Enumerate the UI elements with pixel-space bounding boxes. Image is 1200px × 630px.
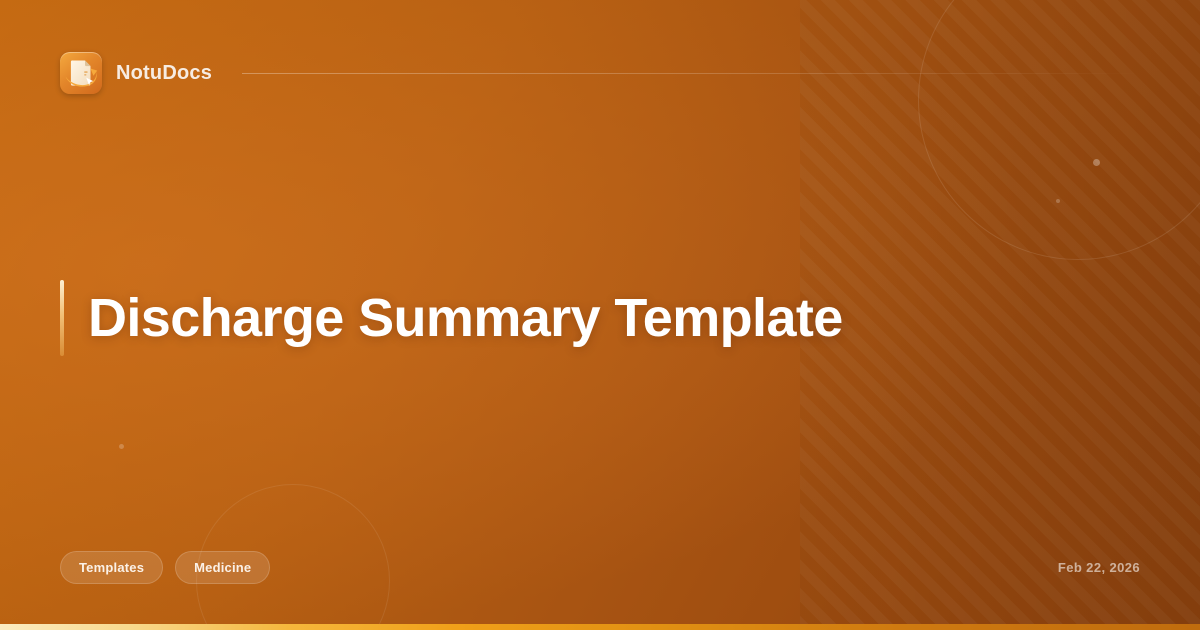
bottom-accent-bar [0, 624, 1200, 630]
title-accent-bar [60, 280, 64, 356]
title-block: Discharge Summary Template [60, 280, 843, 356]
tag-list: Templates Medicine [60, 551, 270, 584]
social-card: NotuDocs Discharge Summary Template Temp… [0, 0, 1200, 630]
document-swoosh-icon [60, 52, 102, 94]
header-divider [242, 73, 1140, 74]
top-right-circle-decoration [918, 0, 1200, 260]
tag-pill-medicine[interactable]: Medicine [175, 551, 270, 584]
card-header: NotuDocs [60, 52, 1140, 94]
dot-large-decoration [1093, 159, 1100, 166]
page-title: Discharge Summary Template [88, 289, 843, 347]
publish-date: Feb 22, 2026 [1058, 560, 1140, 575]
card-footer: Templates Medicine Feb 22, 2026 [60, 551, 1140, 584]
dot-small-decoration [1056, 199, 1060, 203]
dot-left-decoration [119, 444, 124, 449]
tag-pill-templates[interactable]: Templates [60, 551, 163, 584]
diagonal-stripe-panel [800, 0, 1200, 630]
brand-name: NotuDocs [116, 62, 212, 85]
